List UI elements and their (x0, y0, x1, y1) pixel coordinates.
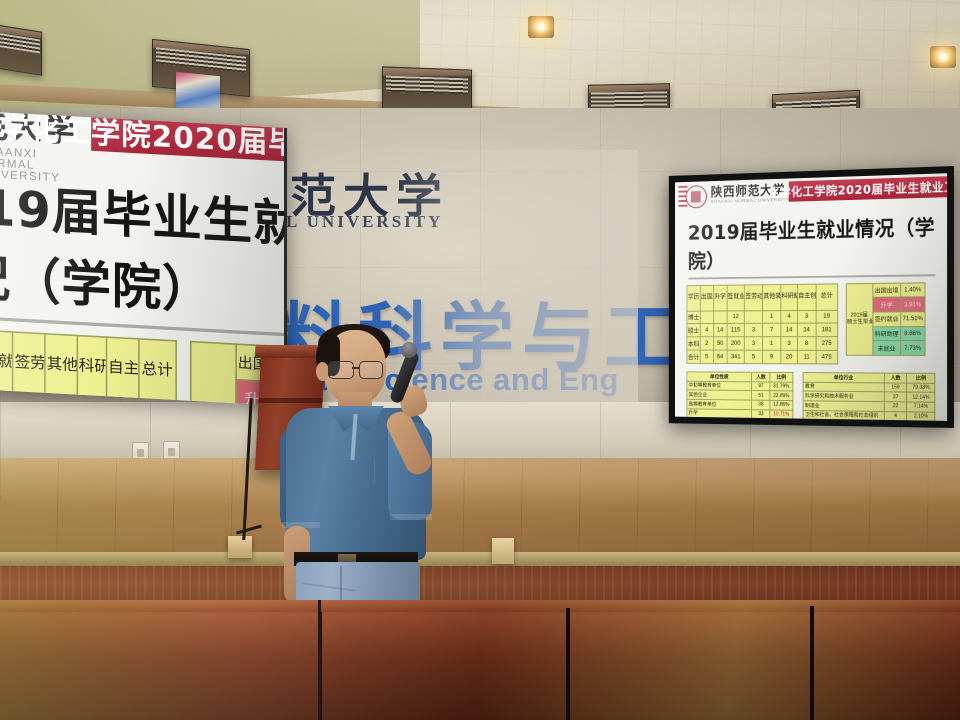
table-row: 博士1214319 (687, 310, 837, 324)
list-row-count: 33 (752, 409, 770, 419)
audience-desk-front (0, 600, 960, 720)
side-row-value: 8.66% (901, 326, 925, 341)
list-row-percent: 7.98% (770, 419, 793, 421)
table-cell: 50 (713, 337, 726, 350)
side-row-name: 科研助理 (872, 326, 900, 341)
table-row: 硕士414115371414181 (687, 323, 837, 337)
list-row-count: 51 (752, 391, 770, 400)
table-header-cell: 签劳动合同形式就业 (13, 332, 45, 398)
slide-title: 2019届毕业生就业情况（学院） (675, 205, 947, 273)
side-row-value: 7.73% (901, 341, 925, 356)
table-row: 本科2502003138275 (687, 337, 837, 351)
table-row: 科研设计单位247.98% (687, 418, 793, 421)
stage-floor (0, 458, 960, 566)
side-row-name: 升学 (872, 297, 900, 312)
vent-grille-icon (591, 91, 666, 107)
list-row-name: 信息传输、软件和信息技术服务业 (803, 419, 884, 421)
table-cell: 14 (797, 323, 815, 336)
list-row-percent: 10.71% (770, 410, 793, 420)
table-cell: 9 (763, 350, 781, 363)
table-cell: 7 (763, 324, 781, 337)
table-header-cell: 人数 (752, 372, 770, 381)
slide-right: 陕西师范大学 SHAANXI NORMAL UNIVERSITY 化学化工学院2… (675, 173, 947, 421)
slide-left: 陕西师范大学 SHAANXI NORMAL UNIVERSITY 化学化工学院2… (0, 112, 287, 406)
table-header-cell: 出国、出境 (700, 285, 713, 311)
ceiling-spotlight-icon (930, 46, 956, 68)
side-row-name: 未就业 (872, 341, 900, 356)
table-cell: 19 (816, 310, 838, 324)
slide-body: 学历出国、出境升学签就业协议形式就业签劳动合同形式就业其他录用形式就业科研助理自… (675, 276, 947, 421)
list-row-name: 科研设计单位 (687, 418, 752, 421)
table-cell: 3 (781, 337, 798, 350)
side-row-value: 3.91% (901, 297, 925, 312)
employment-main-table: 学历出国、出境升学签就业协议形式就业签劳动合同形式就业其他录用形式就业科研助理自… (687, 283, 838, 364)
table-cell (713, 311, 726, 324)
stage-block (228, 536, 252, 558)
table-header-cell: 人数 (884, 373, 907, 383)
glasses-lens (359, 361, 383, 379)
table-header-cell: 其他录用形式就业 (45, 333, 77, 399)
table-cell: 4 (781, 310, 798, 323)
venue-sign-en-top: L UNIVERSITY (286, 212, 443, 232)
row-label: 博士 (687, 311, 700, 324)
table-header-cell: 科研助理 (781, 284, 798, 310)
table-cell: 11 (797, 350, 815, 363)
ceiling-spotlight-icon (528, 16, 554, 38)
vent-grille-icon (156, 48, 246, 73)
table-cell: 1 (763, 337, 781, 350)
table-header-cell: 总计 (138, 338, 175, 404)
ceiling-vent-unit (0, 24, 42, 76)
list-row-percent: 12.14% (907, 392, 935, 402)
table-row: 卫生和社会、社会保障和社会组织42.10% (803, 410, 935, 421)
list-row-count: 24 (752, 419, 770, 421)
mic-cable-foreground (318, 600, 321, 720)
table-cell: 1 (763, 310, 781, 323)
table-cell: 2 (700, 337, 713, 350)
list-row-count: 97 (752, 381, 770, 390)
vent-grille-icon (0, 32, 40, 53)
list-row-count: 38 (752, 400, 770, 410)
table-header-cell: 自主创业 (797, 284, 815, 310)
row-label: 合计 (687, 350, 700, 363)
table-cell: 14 (781, 323, 798, 336)
table-cell: 20 (781, 350, 798, 363)
table-header-cell: 签就业协议形式就业 (727, 285, 745, 311)
table-header-cell: 签劳动合同形式就业 (745, 285, 763, 311)
side-row-name: 出国出境 (872, 283, 900, 298)
table-cell (700, 311, 713, 324)
slide-banner: 化学化工学院2020届毕业生就业工作 (788, 176, 947, 202)
table-header-cell: 学历 (687, 285, 700, 310)
list-row-percent: 12.86% (770, 400, 793, 410)
side-table-label: 2019届硕士生毕业 (846, 283, 872, 355)
projection-screen-right-frame: 陕西师范大学 SHAANXI NORMAL UNIVERSITY 化学化工学院2… (669, 166, 954, 428)
table-header-cell: 其他录用形式就业 (763, 284, 781, 310)
list-row-count: 159 (884, 383, 907, 393)
masters-summary-table: 2019届硕士生毕业出国出境1.40%升学3.91%签约就业71.51%科研助理… (846, 282, 926, 356)
list-row-percent: 7.14% (907, 402, 935, 412)
side-row-name: 签约就业 (872, 312, 900, 327)
table-cell: 3 (745, 337, 763, 350)
glasses-lens (328, 361, 354, 379)
vent-grille-icon (386, 75, 469, 94)
table-cell: 341 (727, 350, 745, 363)
table-cell: 5 (700, 350, 713, 363)
table-cell (745, 310, 763, 323)
list-row-name: 升学 (687, 408, 752, 418)
side-row-value: 1.40% (901, 283, 925, 298)
slide-row-bottom: 单位性质人数比例中初等教育单位9731.79%其他企业5122.89%高等教育单… (687, 371, 936, 421)
table-cell: 3 (745, 324, 763, 337)
table-header-cell: 签就业协议形式就业 (0, 330, 13, 396)
projection-screen-right: 陕西师范大学 SHAANXI NORMAL UNIVERSITY 化学化工学院2… (675, 173, 947, 421)
stage-block (492, 538, 514, 564)
stage-reflection (0, 458, 960, 506)
employer-industry-table: 单位行业人数比例教育15979.33%科学研究和技术服务业3712.14%制造业… (803, 372, 936, 421)
table-header-cell: 总计 (816, 284, 838, 310)
table-cell: 275 (816, 337, 838, 351)
table-cell: 4 (700, 324, 713, 337)
list-row-count: 22 (884, 402, 907, 412)
table-header-cell: 比例 (770, 372, 793, 381)
desk-seam (810, 606, 814, 720)
table-cell: 3 (797, 310, 815, 324)
table-row: 2019届硕士生毕业出国出境1.40% (846, 283, 925, 298)
glasses-icon (328, 361, 388, 378)
list-row-count: 37 (884, 392, 907, 402)
list-row-percent: 22.89% (770, 391, 793, 401)
table-cell: 115 (727, 324, 745, 337)
university-seal-icon (685, 185, 707, 209)
table-cell: 8 (797, 337, 815, 350)
table-cell: 14 (713, 324, 726, 337)
list-row-percent: 79.33% (907, 383, 935, 393)
projection-screen-left: 陕西师范大学 SHAANXI NORMAL UNIVERSITY 化学化工学院2… (0, 112, 287, 406)
list-row-count: 4 (884, 411, 907, 421)
table-cell: 12 (727, 310, 745, 323)
table-header-cell: 升学 (713, 285, 726, 311)
list-row-percent: 2.10% (907, 411, 935, 420)
wall-poster (176, 72, 220, 113)
side-row-value: 71.51% (901, 312, 925, 327)
table-row: 合计564341592011475 (687, 350, 837, 364)
slide-row-top: 学历出国、出境升学签就业协议形式就业签劳动合同形式就业其他录用形式就业科研助理自… (687, 282, 936, 365)
list-row-percent: 31.79% (770, 382, 793, 392)
row-label: 本科 (687, 337, 700, 350)
table-header-cell: 科研助理 (77, 335, 106, 401)
employer-type-table: 单位性质人数比例中初等教育单位9731.79%其他企业5122.89%高等教育单… (687, 371, 793, 421)
row-label: 硕士 (687, 324, 700, 337)
table-header-cell: 单位性质 (687, 372, 752, 382)
table-cell: 5 (745, 350, 763, 363)
lecture-hall-photo: 范大学 L UNIVERSITY 料科学与工程学 rials Science a… (0, 0, 960, 720)
desk-seam (566, 608, 570, 720)
table-header-cell: 比例 (907, 373, 935, 383)
table-cell: 181 (816, 323, 838, 337)
side-table-label: 2019届硕士生毕业 (190, 341, 235, 406)
table-cell: 200 (727, 337, 745, 350)
sleeve-cuff (390, 514, 432, 520)
table-cell: 475 (816, 350, 838, 364)
table-cell: 64 (713, 350, 726, 363)
desk-reflection (0, 600, 960, 720)
table-header-cell: 自主创业 (106, 337, 138, 403)
